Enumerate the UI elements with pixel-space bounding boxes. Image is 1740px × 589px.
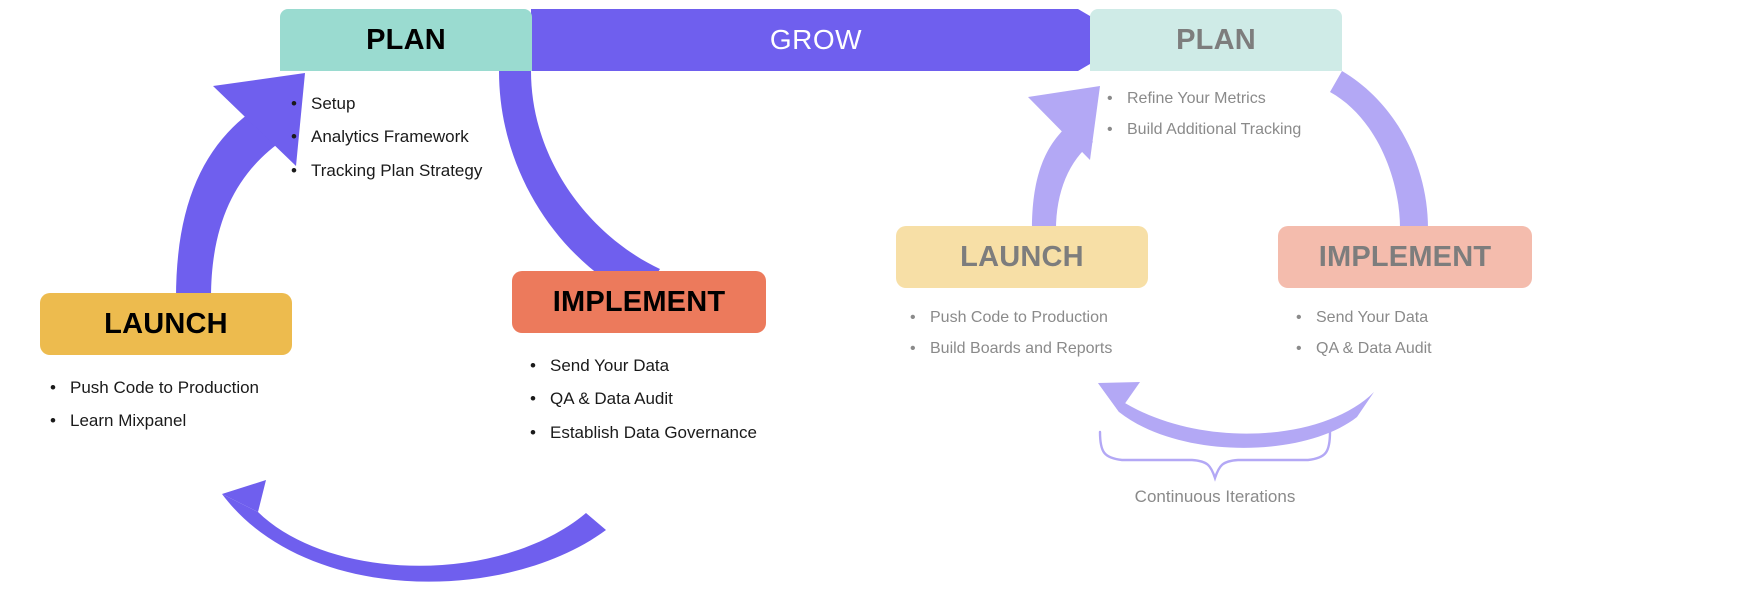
list-item-label: Send Your Data — [550, 355, 669, 376]
list-item: • Establish Data Governance — [530, 422, 766, 443]
grow-arrow-launch-to-plan — [1032, 118, 1093, 230]
continuous-iterations-label: Continuous Iterations — [1080, 487, 1350, 507]
bullet-icon: • — [1296, 339, 1316, 359]
list-item-label: Build Additional Tracking — [1127, 120, 1301, 140]
continuous-iterations-brace — [1100, 432, 1330, 478]
list-item-label: QA & Data Audit — [1316, 339, 1432, 359]
bullet-icon: • — [910, 308, 930, 328]
stage-implement-active-bullets: • Send Your Data • QA & Data Audit • Est… — [530, 355, 766, 443]
stage-implement-grow-title: IMPLEMENT — [1278, 226, 1532, 288]
stage-plan-active[interactable]: PLAN • Setup • Analytics Framework • Tra… — [280, 9, 532, 193]
list-item: • Send Your Data — [1296, 308, 1532, 328]
stage-plan-grow-bullets: • Refine Your Metrics • Build Additional… — [1107, 89, 1342, 140]
list-item-label: Analytics Framework — [311, 126, 469, 147]
grow-arrowhead-implement-to-launch — [1098, 382, 1140, 412]
list-item-label: Send Your Data — [1316, 308, 1428, 328]
stage-implement-grow-bullets: • Send Your Data • QA & Data Audit — [1296, 308, 1532, 359]
arrow-launch-to-plan — [176, 104, 286, 298]
stage-plan-active-title: PLAN — [280, 9, 532, 71]
stage-plan-grow[interactable]: PLAN • Refine Your Metrics • Build Addit… — [1090, 9, 1342, 151]
list-item: • Send Your Data — [530, 355, 766, 376]
list-item-label: QA & Data Audit — [550, 388, 673, 409]
list-item: • QA & Data Audit — [530, 388, 766, 409]
stage-plan-active-bullets: • Setup • Analytics Framework • Tracking… — [291, 93, 532, 181]
arrow-implement-to-launch — [222, 494, 606, 582]
bullet-icon: • — [1107, 120, 1127, 140]
bullet-icon: • — [530, 422, 550, 443]
bullet-icon: • — [291, 160, 311, 181]
stage-implement-grow[interactable]: IMPLEMENT • Send Your Data • QA & Data A… — [1278, 226, 1532, 370]
stage-plan-grow-title: PLAN — [1090, 9, 1342, 71]
list-item: • Push Code to Production — [910, 308, 1148, 328]
list-item: • Analytics Framework — [291, 126, 532, 147]
bullet-icon: • — [291, 93, 311, 114]
list-item: • Build Additional Tracking — [1107, 120, 1342, 140]
stage-launch-grow-bullets: • Push Code to Production • Build Boards… — [910, 308, 1148, 359]
lifecycle-diagram: GROW PLAN • Setup • Analytics Framework … — [0, 0, 1740, 589]
stage-implement-active-title: IMPLEMENT — [512, 271, 766, 333]
list-item: • Build Boards and Reports — [910, 339, 1148, 359]
grow-arrow-implement-to-launch — [1098, 383, 1374, 448]
bullet-icon: • — [1296, 308, 1316, 328]
bullet-icon: • — [291, 126, 311, 147]
list-item-label: Push Code to Production — [70, 377, 259, 398]
stage-launch-active-bullets: • Push Code to Production • Learn Mixpan… — [50, 377, 292, 432]
bullet-icon: • — [50, 377, 70, 398]
stage-launch-active[interactable]: LAUNCH • Push Code to Production • Learn… — [40, 293, 292, 444]
grow-banner-label: GROW — [531, 9, 1101, 71]
list-item: • Tracking Plan Strategy — [291, 160, 532, 181]
stage-implement-active[interactable]: IMPLEMENT • Send Your Data • QA & Data A… — [512, 271, 766, 455]
list-item: • Setup — [291, 93, 532, 114]
stage-launch-active-title: LAUNCH — [40, 293, 292, 355]
list-item-label: Tracking Plan Strategy — [311, 160, 482, 181]
grow-arrow-plan-to-implement — [1330, 71, 1428, 228]
list-item-label: Push Code to Production — [930, 308, 1108, 328]
list-item-label: Setup — [311, 93, 355, 114]
bullet-icon: • — [910, 339, 930, 359]
stage-launch-grow[interactable]: LAUNCH • Push Code to Production • Build… — [896, 226, 1148, 370]
bullet-icon: • — [1107, 89, 1127, 109]
list-item: • Push Code to Production — [50, 377, 292, 398]
list-item-label: Build Boards and Reports — [930, 339, 1112, 359]
arrowhead-implement-to-launch — [222, 480, 266, 512]
list-item-label: Refine Your Metrics — [1127, 89, 1266, 109]
list-item-label: Learn Mixpanel — [70, 410, 186, 431]
bullet-icon: • — [50, 410, 70, 431]
list-item: • Learn Mixpanel — [50, 410, 292, 431]
list-item: • Refine Your Metrics — [1107, 89, 1342, 109]
list-item: • QA & Data Audit — [1296, 339, 1532, 359]
list-item-label: Establish Data Governance — [550, 422, 757, 443]
bullet-icon: • — [530, 388, 550, 409]
bullet-icon: • — [530, 355, 550, 376]
stage-launch-grow-title: LAUNCH — [896, 226, 1148, 288]
